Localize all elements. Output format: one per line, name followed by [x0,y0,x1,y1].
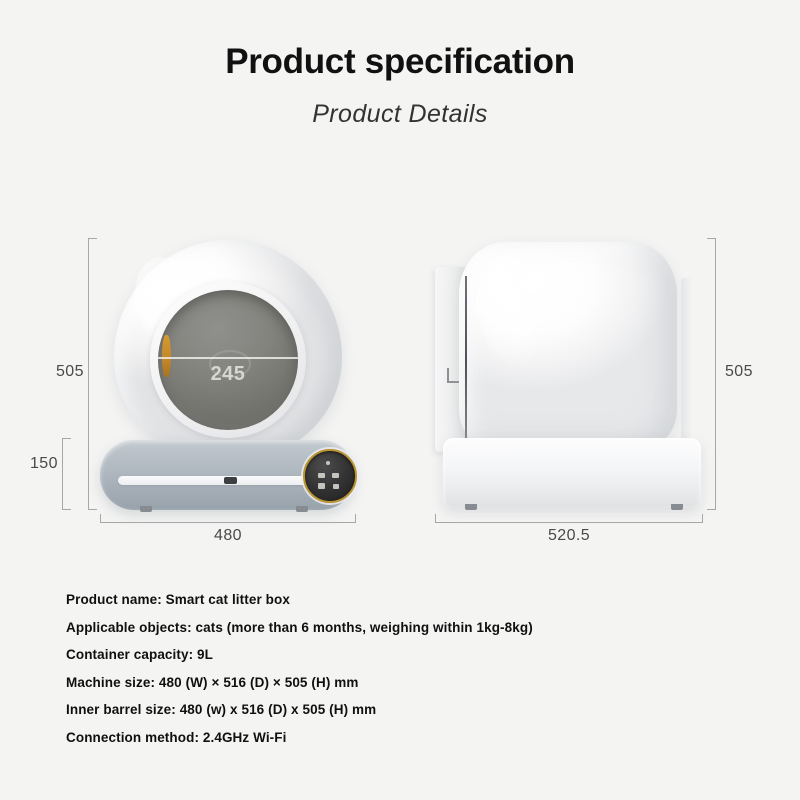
panel-power-icon [326,461,330,465]
side-edge-strip [681,278,691,448]
base-drawer-front [100,440,355,510]
spec-item: Inner barrel size: 480 (w) x 516 (D) x 5… [66,703,766,717]
spec-item: Connection method: 2.4GHz Wi-Fi [66,731,766,745]
panel-grid-icon [318,483,325,489]
dimension-line-width-front [100,514,356,523]
dome-shell-side [459,242,677,450]
rear-seam-line [465,276,467,448]
foot-front-right [296,506,308,512]
dimension-line-height-side [707,238,716,510]
dome-opening: 245 [158,290,298,430]
foot-front-left [140,506,152,512]
panel-glyph-left-icon [318,473,325,478]
base-drawer-side [443,438,701,508]
dimension-label-width-front: 480 [0,527,456,545]
dimension-label-height-front: 505 [56,363,84,381]
page-title: Product specification [0,42,800,82]
page-subtitle: Product Details [0,100,800,129]
specification-list: Product name: Smart cat litter box Appli… [66,593,766,758]
product-front-view: 245 [100,240,355,520]
drawer-slot [118,476,318,485]
dimension-label-depth-side: 520.5 [435,527,703,545]
control-panel-icon[interactable] [303,449,357,503]
spec-item: Applicable objects: cats (more than 6 mo… [66,621,766,635]
spec-item: Product name: Smart cat litter box [66,593,766,607]
foot-side-right [671,504,683,510]
dimension-line-height-front [88,238,97,510]
panel-glyph-right-icon [332,473,339,478]
product-figures: 245 [0,225,800,555]
drawer-handle-notch [224,477,237,484]
spec-item: Container capacity: 9L [66,648,766,662]
dimension-line-base-height [62,438,71,510]
dimension-label-height-side: 505 [725,363,753,381]
panel-clean-icon [333,484,339,489]
foot-side-left [465,504,477,510]
opening-display-value: 245 [158,363,298,386]
product-side-view [435,240,705,520]
dimension-label-base-height: 150 [30,455,58,473]
spec-item: Machine size: 480 (W) × 516 (D) × 505 (H… [66,676,766,690]
dimension-line-depth-side [435,514,703,523]
